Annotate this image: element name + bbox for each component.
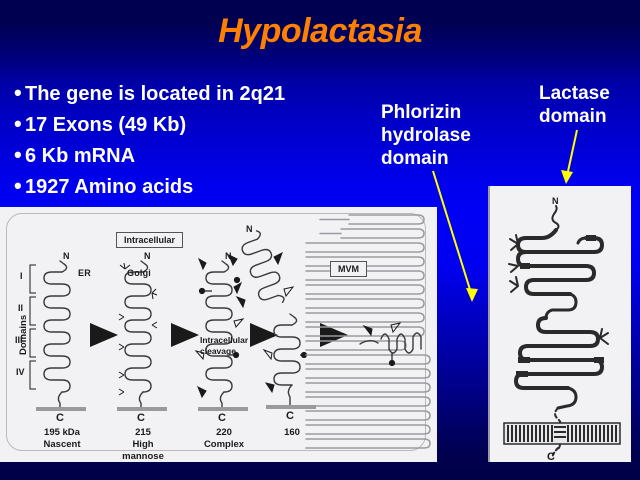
stage-state-label: mannose (122, 451, 164, 462)
callout-line: domain (539, 105, 639, 128)
c-terminus-label: C (547, 451, 555, 463)
bullet-marker: • (14, 171, 25, 200)
domain-numeral-iii: III (15, 335, 23, 345)
callout-line: Phlorizin (381, 101, 501, 124)
callout-line: domain (381, 147, 501, 170)
stage-state-label: Nascent (44, 439, 81, 450)
intracellular-compartment-label: Intracellular (116, 232, 183, 248)
domain-numeral-ii: II (18, 303, 23, 313)
n-terminus-label: N (225, 251, 232, 261)
callout-line: Lactase (539, 82, 639, 105)
intracellular-cleavage-label: Intracellular cleavage (200, 335, 254, 357)
n-terminus-label: N (246, 224, 253, 234)
callout-line: hydrolase (381, 124, 501, 147)
phlorizin-callout-arrow-icon (430, 168, 490, 308)
stage-mass-value: 195 kDa (44, 427, 80, 438)
list-item-label: The gene is located in 2q21 (25, 83, 285, 105)
stage-state-label: High (132, 439, 153, 450)
list-item: •6 Kb mRNA (14, 140, 374, 171)
list-item: •17 Exons (49 Kb) (14, 109, 374, 140)
mvm-membrane-label: MVM (330, 261, 367, 277)
lactase-callout-arrow-icon (560, 128, 600, 192)
c-terminus-label: C (286, 410, 294, 422)
stage-mass-value: 220 (216, 427, 232, 438)
stage-state-label: Complex (204, 439, 244, 450)
callout-phlorizin-hydrolase-domain: Phlorizin hydrolase domain (381, 101, 501, 170)
mature-lactase-topology-panel: N C (488, 186, 631, 462)
bullet-marker: • (14, 140, 25, 169)
bullet-list: •The gene is located in 2q21 •17 Exons (… (14, 78, 374, 202)
bullet-marker: • (14, 109, 25, 138)
stage-mass-215: 215 High mannose (115, 427, 171, 463)
n-terminus-label: N (63, 251, 70, 261)
list-item: •1927 Amino acids (14, 171, 374, 202)
callout-lactase-domain: Lactase domain (539, 82, 639, 128)
stage-mass-value: 215 (135, 427, 151, 438)
stage-mass-195: 195 kDa Nascent (34, 427, 90, 451)
lactase-topology-graphic (490, 186, 631, 462)
cleavage-label-line: Intracellular (200, 335, 248, 345)
n-terminus-label: N (144, 251, 151, 261)
c-terminus-label: C (56, 412, 64, 424)
stage-mass-value: 160 (284, 427, 300, 438)
cleavage-label-line: cleavage (200, 346, 236, 356)
organelle-label-er: ER (78, 268, 91, 278)
c-terminus-label: C (137, 412, 145, 424)
lipid-bilayer (504, 423, 620, 444)
list-item-label: 6 Kb mRNA (25, 145, 135, 167)
domain-numeral-i: I (20, 271, 23, 281)
n-terminus-label: N (552, 196, 559, 206)
list-item-label: 1927 Amino acids (25, 176, 193, 198)
stage-mass-160: 160 (264, 427, 320, 439)
bullet-marker: • (14, 78, 25, 107)
list-item: •The gene is located in 2q21 (14, 78, 374, 109)
c-terminus-label: C (218, 412, 226, 424)
list-item-label: 17 Exons (49 Kb) (25, 114, 186, 136)
stage-mass-220: 220 Complex (196, 427, 252, 451)
slide-canvas: Hypolactasia •The gene is located in 2q2… (0, 0, 640, 480)
organelle-label-golgi: Golgi (127, 268, 151, 278)
page-title: Hypolactasia (0, 12, 640, 51)
lactase-biosynthesis-panel: Intracellular MVM ER Golgi Domains I II … (0, 207, 437, 462)
domain-numeral-iv: IV (16, 367, 25, 377)
